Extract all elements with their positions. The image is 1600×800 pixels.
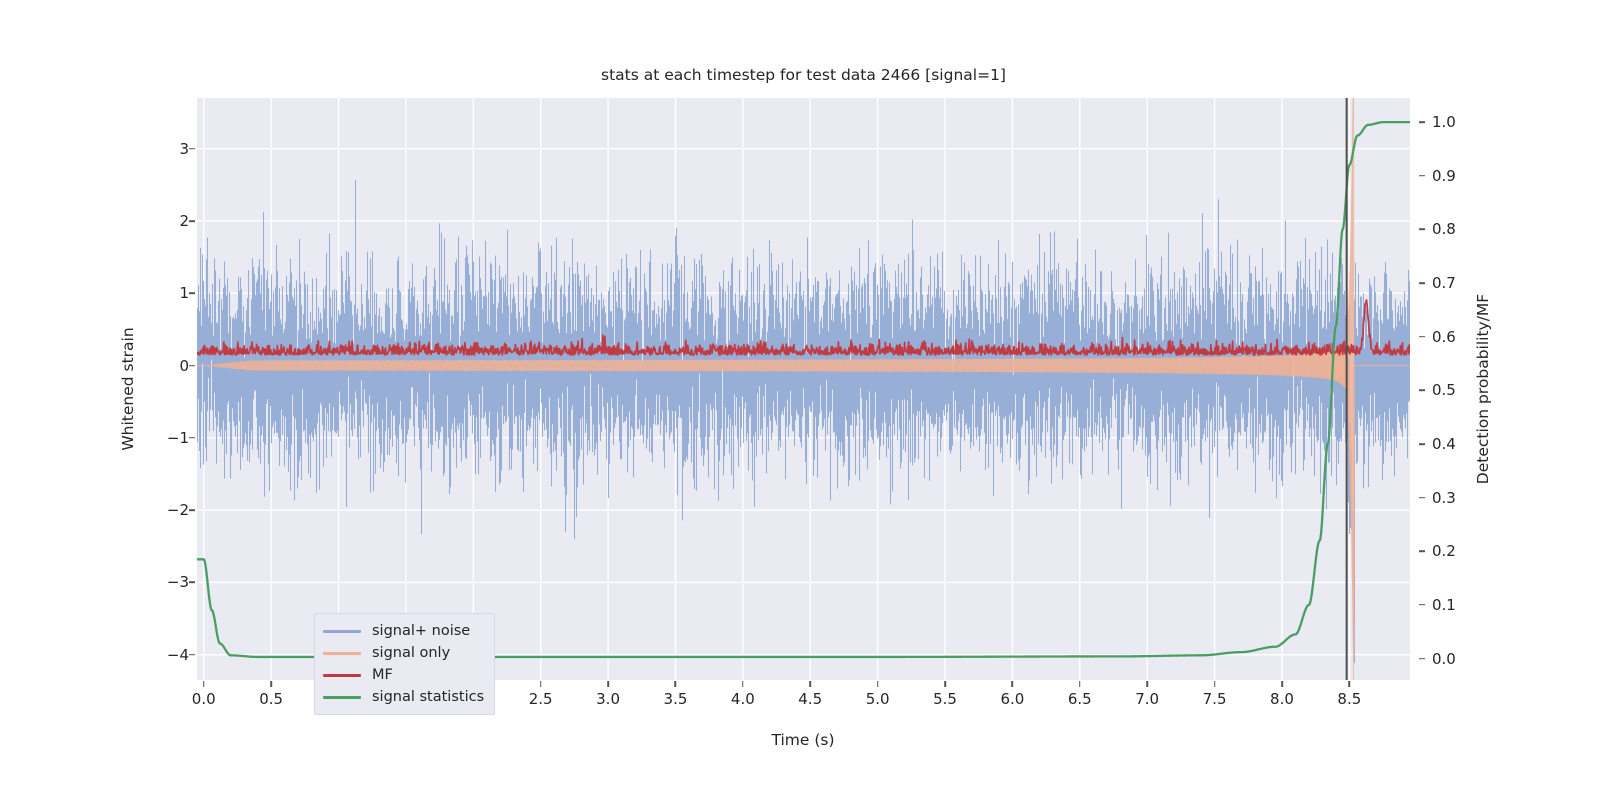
x-axis-title: Time (s)	[771, 731, 834, 749]
x-axis-tick-label: 0.5	[259, 690, 283, 708]
legend-swatch-icon	[323, 674, 361, 677]
legend: signal+ noisesignal onlyMFsignal statist…	[314, 613, 495, 715]
y-axis-right-tick-label: 0.9	[1432, 167, 1456, 185]
x-axis-tick-mark	[1349, 681, 1351, 687]
y-axis-right-tick-label: 0.6	[1432, 328, 1456, 346]
y-axis-left-tick-label: −2	[167, 501, 189, 519]
y-axis-left-tick-mark	[189, 509, 195, 511]
legend-item-label: signal+ noise	[372, 623, 470, 639]
y-axis-left-tick-mark	[189, 292, 195, 294]
y-axis-right-tick-label: 0.4	[1432, 435, 1456, 453]
x-axis-tick-label: 8.5	[1337, 690, 1361, 708]
legend-item[interactable]: signal only	[323, 642, 484, 664]
y-axis-left-title: Whitened strain	[119, 327, 137, 450]
x-axis-tick-mark	[203, 681, 205, 687]
figure-canvas: stats at each timestep for test data 246…	[0, 0, 1600, 800]
legend-item[interactable]: MF	[323, 664, 484, 686]
x-axis-tick-mark	[809, 681, 811, 687]
y-axis-right-tick-mark	[1419, 229, 1425, 231]
y-axis-right-tick-mark	[1419, 550, 1425, 552]
y-axis-left-tick-mark	[189, 654, 195, 656]
y-axis-right-tick-mark	[1419, 336, 1425, 338]
x-axis-tick-label: 5.5	[933, 690, 957, 708]
y-axis-left-tick-label: −3	[167, 573, 189, 591]
x-axis-tick-mark	[1079, 681, 1081, 687]
y-axis-right-tick-label: 0.2	[1432, 542, 1456, 560]
x-axis-tick-mark	[1281, 681, 1283, 687]
x-axis-tick-label: 6.0	[1000, 690, 1024, 708]
y-axis-right-tick-mark	[1419, 443, 1425, 445]
y-axis-right-tick-mark	[1419, 282, 1425, 284]
x-axis-tick-label: 7.5	[1203, 690, 1227, 708]
plot-canvas	[197, 98, 1410, 680]
y-axis-right-tick-label: 0.8	[1432, 220, 1456, 238]
legend-item[interactable]: signal+ noise	[323, 620, 484, 642]
legend-item-label: signal only	[372, 645, 450, 661]
y-axis-left-tick-mark	[189, 365, 195, 367]
y-axis-right-tick-mark	[1419, 390, 1425, 392]
x-axis-tick-mark	[1146, 681, 1148, 687]
legend-swatch-icon	[323, 696, 361, 699]
x-axis-tick-mark	[877, 681, 879, 687]
x-axis-tick-label: 3.0	[596, 690, 620, 708]
x-axis-tick-label: 6.5	[1068, 690, 1092, 708]
y-axis-right-tick-label: 0.3	[1432, 489, 1456, 507]
series-signal-plus-noise	[198, 180, 1410, 663]
x-axis-tick-mark	[540, 681, 542, 687]
y-axis-right-tick-label: 0.7	[1432, 274, 1456, 292]
x-axis-tick-mark	[742, 681, 744, 687]
y-axis-left-tick-label: −1	[167, 429, 189, 447]
x-axis-tick-mark	[944, 681, 946, 687]
legend-swatch-icon	[323, 630, 361, 633]
y-axis-left-tick-mark	[189, 437, 195, 439]
x-axis-tick-label: 8.0	[1270, 690, 1294, 708]
y-axis-right-tick-mark	[1419, 658, 1425, 660]
y-axis-left-tick-mark	[189, 148, 195, 150]
x-axis-tick-label: 4.5	[798, 690, 822, 708]
y-axis-right-tick-mark	[1419, 497, 1425, 499]
y-axis-left-tick-label: 2	[179, 212, 189, 230]
y-axis-right-tick-label: 0.0	[1432, 650, 1456, 668]
x-axis-tick-label: 0.0	[192, 690, 216, 708]
y-axis-right-title: Detection probability/MF	[1474, 294, 1492, 484]
y-axis-right-tick-mark	[1419, 604, 1425, 606]
x-axis-tick-mark	[270, 681, 272, 687]
y-axis-right-tick-label: 0.5	[1432, 381, 1456, 399]
y-axis-left-tick-label: 3	[179, 140, 189, 158]
y-axis-right-tick-label: 0.1	[1432, 596, 1456, 614]
legend-item[interactable]: signal statistics	[323, 686, 484, 708]
plot-area	[197, 98, 1410, 680]
y-axis-left-tick-label: −4	[167, 646, 189, 664]
x-axis-tick-label: 7.0	[1135, 690, 1159, 708]
legend-swatch-icon	[323, 652, 361, 655]
x-axis-tick-label: 2.5	[529, 690, 553, 708]
x-axis-tick-label: 4.0	[731, 690, 755, 708]
page-title: stats at each timestep for test data 246…	[197, 66, 1410, 84]
x-axis-tick-label: 5.0	[866, 690, 890, 708]
x-axis-tick-label: 3.5	[664, 690, 688, 708]
y-axis-left-tick-mark	[189, 220, 195, 222]
legend-item-label: MF	[372, 667, 393, 683]
y-axis-left-tick-label: 1	[179, 284, 189, 302]
x-axis-tick-mark	[675, 681, 677, 687]
legend-item-label: signal statistics	[372, 689, 484, 705]
x-axis-tick-mark	[1012, 681, 1014, 687]
x-axis-tick-mark	[1214, 681, 1216, 687]
y-axis-right-tick-mark	[1419, 121, 1425, 123]
y-axis-left-tick-mark	[189, 582, 195, 584]
y-axis-right-tick-mark	[1419, 175, 1425, 177]
y-axis-left-tick-label: 0	[179, 357, 189, 375]
x-axis-tick-mark	[607, 681, 609, 687]
y-axis-right-tick-label: 1.0	[1432, 113, 1456, 131]
